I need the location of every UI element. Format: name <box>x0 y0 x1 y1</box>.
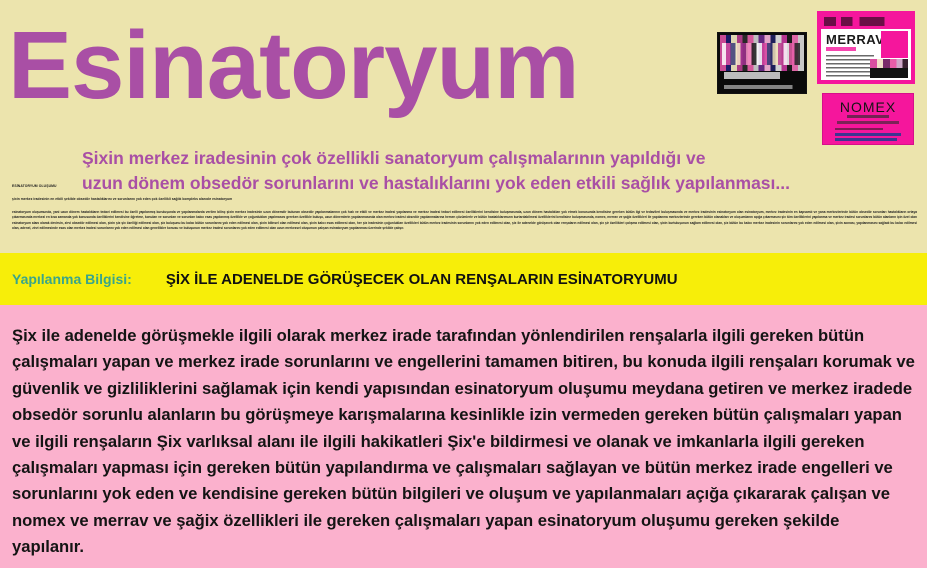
collage-caption-line1 <box>724 72 802 79</box>
collage-strip-lower <box>722 43 800 65</box>
microtext-body: esinatoryum oluşumunda, yani uzun dönem … <box>12 210 917 232</box>
page-root: Esinatoryum MERRAV NOMEX <box>0 0 927 568</box>
merrav-body-lines <box>826 55 874 79</box>
microtext-lead: şixin merkez iradesinin en etkili şekild… <box>12 197 917 202</box>
merrav-topbar <box>821 15 911 29</box>
info-band-title: ŞİX İLE ADENELDE GÖRÜŞECEK OLAN RENŞALAR… <box>166 271 678 288</box>
header-subtitle-line-1: Şixin merkez iradesinin çok özellikli sa… <box>82 146 842 171</box>
body-paragraph: Şix ile adenelde görüşmekle ilgili olara… <box>12 323 915 561</box>
merrav-badge <box>881 31 908 58</box>
nomex-line-1 <box>847 115 889 118</box>
collage-caption-line2 <box>724 85 802 89</box>
info-band-label: Yapılanma Bilgisi: <box>12 271 132 287</box>
merrav-subtitle-bar <box>826 47 856 51</box>
merrav-wordmark: MERRAV <box>826 32 884 47</box>
nomex-line-5 <box>835 138 897 141</box>
thumbnail-nomex-card[interactable]: NOMEX <box>822 93 914 145</box>
thumbnail-merrav-page[interactable]: MERRAV <box>817 11 915 84</box>
merrav-dark-block <box>870 68 908 78</box>
info-band: Yapılanma Bilgisi: ŞİX İLE ADENELDE GÖRÜ… <box>0 253 927 305</box>
body-section: Şix ile adenelde görüşmekle ilgili olara… <box>0 305 927 568</box>
page-title: Esinatoryum <box>8 14 578 118</box>
nomex-line-2 <box>837 121 899 124</box>
thumbnail-collage-image[interactable] <box>717 32 807 94</box>
header-banner: Esinatoryum MERRAV NOMEX <box>0 0 927 253</box>
thumbnail-cluster: MERRAV NOMEX <box>712 6 922 146</box>
merrav-topbar-text <box>824 17 908 26</box>
nomex-wordmark: NOMEX <box>823 99 913 115</box>
microtext-heading: ESİNATORYUM OLUŞUMU <box>12 184 917 189</box>
nomex-line-3 <box>835 128 883 130</box>
nomex-line-4 <box>835 133 901 136</box>
microtext-block: ESİNATORYUM OLUŞUMU şixin merkez iradesi… <box>12 184 917 232</box>
